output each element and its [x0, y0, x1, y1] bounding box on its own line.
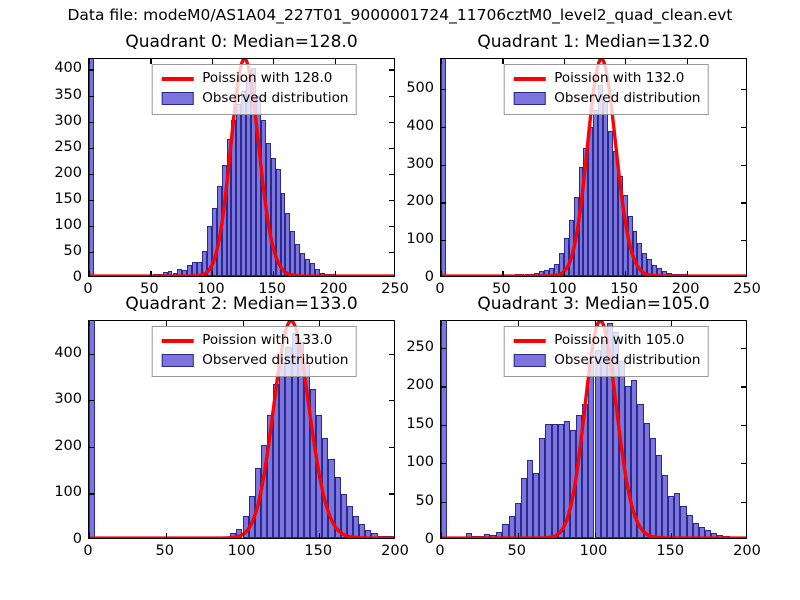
legend[interactable]: Poission with 132.0Observed distribution [503, 64, 708, 115]
x-tick-label: 150 [258, 281, 286, 297]
y-tick-label: 400 [36, 345, 82, 361]
y-tick-label: 0 [388, 269, 434, 285]
x-tick [441, 271, 442, 276]
y-tick-label: 200 [388, 377, 434, 393]
x-tick-label: 150 [656, 543, 684, 559]
y-tick [89, 447, 94, 448]
y-tick-label: 400 [388, 118, 434, 134]
y-tick [441, 202, 446, 203]
y-tick-label: 150 [388, 416, 434, 432]
x-tick-label: 100 [549, 281, 577, 297]
legend-label-poisson: Poission with 132.0 [554, 69, 684, 89]
y-tick [741, 127, 746, 128]
y-tick-label: 500 [388, 80, 434, 96]
y-tick [89, 226, 94, 227]
observed-patch-icon [159, 92, 195, 105]
y-tick-label: 350 [36, 87, 82, 103]
legend-label-observed: Observed distribution [554, 351, 700, 371]
x-tick [671, 533, 672, 538]
figure-title: Data file: modeM0/AS1A04_227T01_90000017… [0, 6, 800, 24]
y-tick-label: 150 [36, 191, 82, 207]
poisson-line-icon [511, 77, 547, 81]
y-tick [389, 226, 394, 227]
x-tick [89, 321, 90, 326]
poisson-line-icon [159, 339, 195, 343]
y-tick-label: 300 [388, 156, 434, 172]
x-tick [89, 533, 90, 538]
subplot-title-quadrant-2: Quadrant 2: Median=133.0 [88, 294, 395, 314]
x-tick-label: 200 [320, 281, 348, 297]
x-tick [518, 533, 519, 538]
x-tick-label: 0 [435, 281, 444, 297]
axes-quadrant-3: Poission with 105.0Observed distribution [440, 320, 747, 539]
legend-item-observed: Observed distribution [159, 351, 348, 371]
y-tick-label: 200 [388, 193, 434, 209]
y-tick-label: 0 [388, 531, 434, 547]
legend[interactable]: Poission with 133.0Observed distribution [151, 326, 356, 377]
x-tick-label: 100 [580, 543, 608, 559]
x-tick [564, 271, 565, 276]
x-tick-label: 100 [228, 543, 256, 559]
y-tick [441, 463, 446, 464]
x-tick-label: 50 [508, 543, 526, 559]
y-tick [389, 447, 394, 448]
legend-label-observed: Observed distribution [554, 89, 700, 109]
subplot-quadrant-2: Quadrant 2: Median=133.0 Poission with 1… [88, 320, 395, 539]
legend-item-observed: Observed distribution [159, 89, 348, 109]
x-tick [441, 533, 442, 538]
legend-item-observed: Observed distribution [511, 89, 700, 109]
y-tick [89, 354, 94, 355]
y-tick [741, 425, 746, 426]
observed-patch-icon [159, 354, 195, 367]
x-tick [166, 533, 167, 538]
x-tick-label: 0 [83, 543, 92, 559]
legend-label-poisson: Poission with 105.0 [554, 331, 684, 351]
y-tick-label: 100 [388, 231, 434, 247]
subplot-title-quadrant-1: Quadrant 1: Median=132.0 [440, 32, 747, 52]
observed-patch-icon [511, 354, 547, 367]
x-tick-label: 250 [733, 281, 761, 297]
poisson-line-icon [159, 77, 195, 81]
x-tick-label: 150 [610, 281, 638, 297]
y-tick [441, 127, 446, 128]
x-tick-label: 200 [733, 543, 761, 559]
x-tick [273, 271, 274, 276]
x-tick [335, 271, 336, 276]
y-tick-label: 200 [36, 165, 82, 181]
y-tick [741, 463, 746, 464]
figure-canvas: Data file: modeM0/AS1A04_227T01_90000017… [0, 0, 800, 600]
x-tick [150, 271, 151, 276]
y-tick [89, 252, 94, 253]
y-tick-label: 300 [36, 113, 82, 129]
x-tick [89, 59, 90, 64]
y-tick-label: 0 [36, 269, 82, 285]
x-tick [319, 533, 320, 538]
axes-quadrant-1: Poission with 132.0Observed distribution [440, 58, 747, 277]
legend-label-poisson: Poission with 133.0 [202, 331, 332, 351]
legend[interactable]: Poission with 128.0Observed distribution [151, 64, 356, 115]
y-tick [89, 200, 94, 201]
subplot-quadrant-1: Quadrant 1: Median=132.0 Poission with 1… [440, 58, 747, 277]
y-tick [741, 165, 746, 166]
y-tick [441, 502, 446, 503]
y-tick [441, 89, 446, 90]
x-tick-label: 50 [140, 281, 158, 297]
y-tick [741, 502, 746, 503]
subplot-quadrant-0: Quadrant 0: Median=128.0 Poission with 1… [88, 58, 395, 277]
y-tick [89, 96, 94, 97]
legend-label-poisson: Poission with 128.0 [202, 69, 332, 89]
x-tick [89, 271, 90, 276]
x-tick [441, 59, 442, 64]
y-tick-label: 300 [36, 391, 82, 407]
poisson-line-icon [511, 339, 547, 343]
y-tick [89, 69, 94, 70]
subplot-quadrant-3: Quadrant 3: Median=105.0 Poission with 1… [440, 320, 747, 539]
x-tick [243, 533, 244, 538]
axes-quadrant-2: Poission with 133.0Observed distribution [88, 320, 395, 539]
y-tick [389, 69, 394, 70]
y-tick [741, 240, 746, 241]
y-tick [441, 165, 446, 166]
y-tick-label: 100 [36, 217, 82, 233]
subplot-title-quadrant-0: Quadrant 0: Median=128.0 [88, 32, 395, 52]
x-tick [441, 321, 442, 326]
y-tick [441, 386, 446, 387]
x-tick [595, 533, 596, 538]
y-tick-label: 50 [388, 493, 434, 509]
x-tick-label: 100 [197, 281, 225, 297]
y-tick-label: 200 [36, 438, 82, 454]
x-tick [212, 271, 213, 276]
y-tick [389, 148, 394, 149]
y-tick [441, 240, 446, 241]
y-tick [89, 122, 94, 123]
y-tick [89, 148, 94, 149]
legend-item-observed: Observed distribution [511, 351, 700, 371]
x-tick-label: 50 [492, 281, 510, 297]
subplot-title-quadrant-3: Quadrant 3: Median=105.0 [440, 294, 747, 314]
y-tick [741, 348, 746, 349]
y-tick [389, 400, 394, 401]
y-tick-label: 400 [36, 60, 82, 76]
y-tick-label: 50 [36, 243, 82, 259]
legend-item-poisson: Poission with 133.0 [159, 331, 348, 351]
x-tick-label: 0 [83, 281, 92, 297]
y-tick [89, 400, 94, 401]
observed-patch-icon [511, 92, 547, 105]
legend-item-poisson: Poission with 105.0 [511, 331, 700, 351]
y-tick-label: 250 [388, 339, 434, 355]
axes-quadrant-0: Poission with 128.0Observed distribution [88, 58, 395, 277]
x-tick-label: 50 [156, 543, 174, 559]
legend[interactable]: Poission with 105.0Observed distribution [503, 326, 708, 377]
y-tick [741, 89, 746, 90]
legend-label-observed: Observed distribution [202, 89, 348, 109]
y-tick [441, 425, 446, 426]
y-tick-label: 100 [388, 454, 434, 470]
y-tick [441, 348, 446, 349]
y-tick [89, 493, 94, 494]
x-tick [625, 271, 626, 276]
legend-item-poisson: Poission with 132.0 [511, 69, 700, 89]
x-tick-label: 0 [435, 543, 444, 559]
y-tick [389, 174, 394, 175]
legend-item-poisson: Poission with 128.0 [159, 69, 348, 89]
y-tick-label: 0 [36, 531, 82, 547]
x-tick-label: 200 [672, 281, 700, 297]
x-tick-label: 150 [304, 543, 332, 559]
y-tick [741, 202, 746, 203]
y-tick-label: 250 [36, 139, 82, 155]
x-tick [502, 271, 503, 276]
y-tick-label: 100 [36, 484, 82, 500]
x-tick [687, 271, 688, 276]
legend-label-observed: Observed distribution [202, 351, 348, 371]
y-tick [389, 252, 394, 253]
y-tick [741, 386, 746, 387]
y-tick [89, 174, 94, 175]
